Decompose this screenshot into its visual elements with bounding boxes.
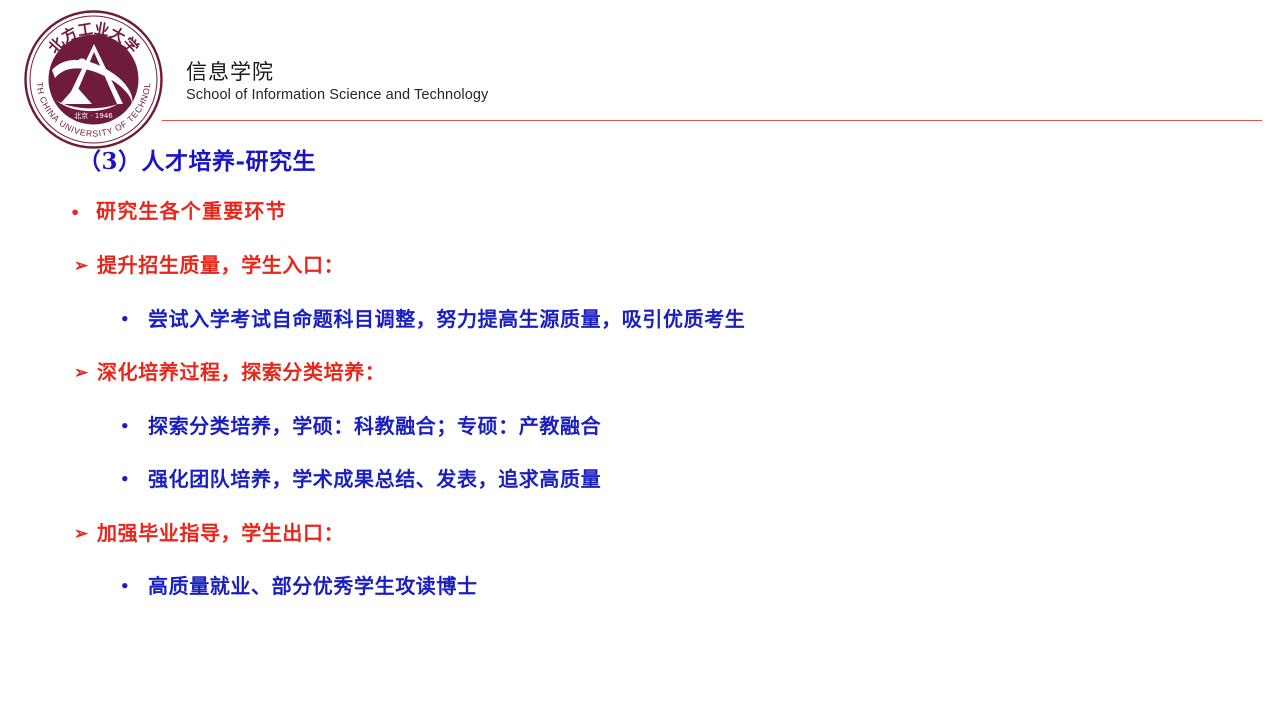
bullet-line: • 探索分类培养，学硕：科教融合；专硕：产教融合 bbox=[120, 410, 601, 439]
bullet-text: 加强毕业指导，学生出口： bbox=[97, 517, 344, 546]
bullet-line: • 高质量就业、部分优秀学生攻读博士 bbox=[120, 570, 478, 599]
header-divider bbox=[162, 120, 1262, 121]
bullet-marker-dot: • bbox=[70, 203, 96, 222]
bullet-line: • 研究生各个重要环节 bbox=[70, 195, 287, 224]
bullet-text: 高质量就业、部分优秀学生攻读博士 bbox=[148, 570, 478, 599]
page-title: （3）人才培养-研究生 bbox=[78, 142, 316, 176]
bullet-marker-dot: • bbox=[120, 417, 148, 435]
bullet-text: 深化培养过程，探索分类培养： bbox=[97, 356, 385, 385]
svg-text:北京 · 1946: 北京 · 1946 bbox=[74, 111, 113, 120]
bullet-line: ➢ 提升招生质量，学生入口： bbox=[74, 249, 344, 278]
university-seal-logo: 北方工业大学 NORTH CHINA UNIVERSITY OF TECHNOL… bbox=[22, 8, 165, 151]
bullet-text: 探索分类培养，学硕：科教融合；专硕：产教融合 bbox=[148, 410, 601, 439]
bullet-marker-arrow: ➢ bbox=[74, 363, 97, 383]
bullet-text: 尝试入学考试自命题科目调整，努力提高生源质量，吸引优质考生 bbox=[148, 303, 745, 332]
bullet-marker-dot: • bbox=[120, 577, 148, 595]
bullet-line: ➢ 深化培养过程，探索分类培养： bbox=[74, 356, 385, 385]
bullet-line: ➢ 加强毕业指导，学生出口： bbox=[74, 517, 344, 546]
bullet-marker-dot: • bbox=[120, 310, 148, 328]
bullet-line: • 强化团队培养，学术成果总结、发表，追求高质量 bbox=[120, 463, 601, 492]
bullet-text: 提升招生质量，学生入口： bbox=[97, 249, 344, 278]
org-name-en: School of Information Science and Techno… bbox=[186, 87, 488, 104]
org-name-cn: 信息学院 bbox=[186, 60, 488, 84]
bullet-marker-arrow: ➢ bbox=[74, 256, 97, 276]
bullet-text: 研究生各个重要环节 bbox=[96, 195, 287, 224]
slide-header: 北方工业大学 NORTH CHINA UNIVERSITY OF TECHNOL… bbox=[0, 0, 1280, 135]
organization-title: 信息学院 School of Information Science and T… bbox=[186, 60, 488, 104]
bullet-marker-arrow: ➢ bbox=[74, 524, 97, 544]
bullet-line: • 尝试入学考试自命题科目调整，努力提高生源质量，吸引优质考生 bbox=[120, 303, 745, 332]
slide-body: （3）人才培养-研究生 • 研究生各个重要环节 ➢ 提升招生质量，学生入口： •… bbox=[0, 135, 1280, 720]
bullet-text: 强化团队培养，学术成果总结、发表，追求高质量 bbox=[148, 463, 601, 492]
bullet-marker-dot: • bbox=[120, 470, 148, 488]
